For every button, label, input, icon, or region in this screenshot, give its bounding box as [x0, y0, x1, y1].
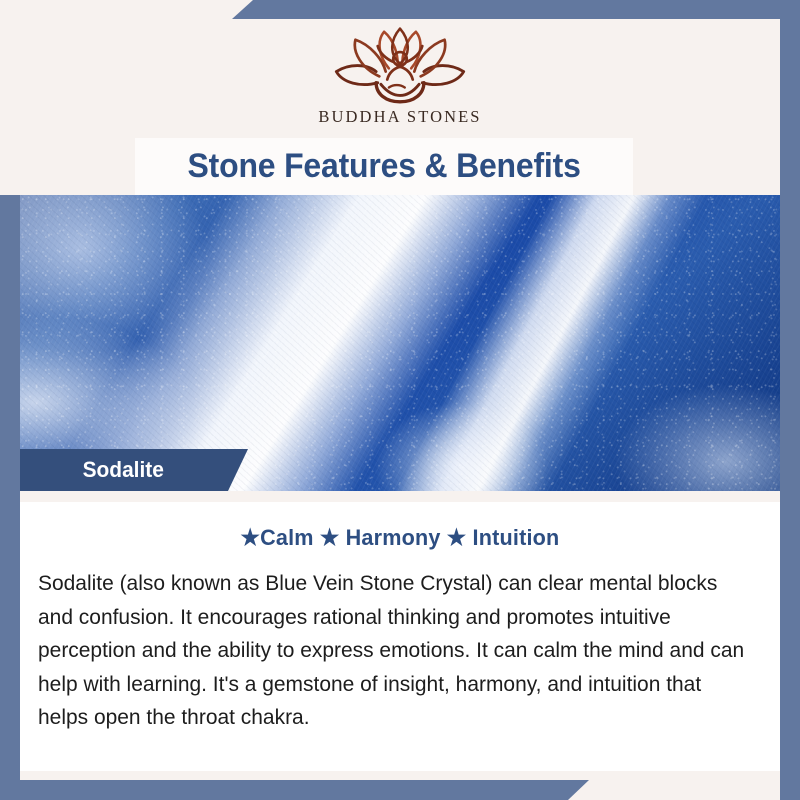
content-panel: ★Calm ★ Harmony ★ Intuition Sodalite (al…	[20, 491, 780, 780]
description-text: Sodalite (also known as Blue Vein Stone …	[38, 567, 748, 735]
title-band: Stone Features & Benefits	[135, 138, 633, 195]
frame-band-left	[0, 195, 20, 800]
lotus-meditation-icon	[320, 27, 480, 105]
frame-band-right	[780, 0, 800, 800]
content-top-divider	[20, 491, 780, 502]
stone-name-label: Sodalite	[24, 457, 164, 483]
page-title: Stone Features & Benefits	[187, 147, 580, 186]
infographic-card: BUDDHA STONES Stone Features & Benefits …	[0, 0, 800, 800]
content-bottom-divider	[20, 771, 780, 780]
brand-name: BUDDHA STONES	[318, 107, 481, 127]
stone-name-banner: Sodalite	[20, 449, 248, 491]
brand-logo: BUDDHA STONES	[20, 19, 780, 139]
stone-photo	[20, 195, 780, 491]
stone-photo-grain	[20, 195, 780, 491]
frame-band-top	[232, 0, 800, 19]
keywords-line: ★Calm ★ Harmony ★ Intuition	[35, 525, 765, 551]
frame-band-bottom	[0, 780, 589, 800]
